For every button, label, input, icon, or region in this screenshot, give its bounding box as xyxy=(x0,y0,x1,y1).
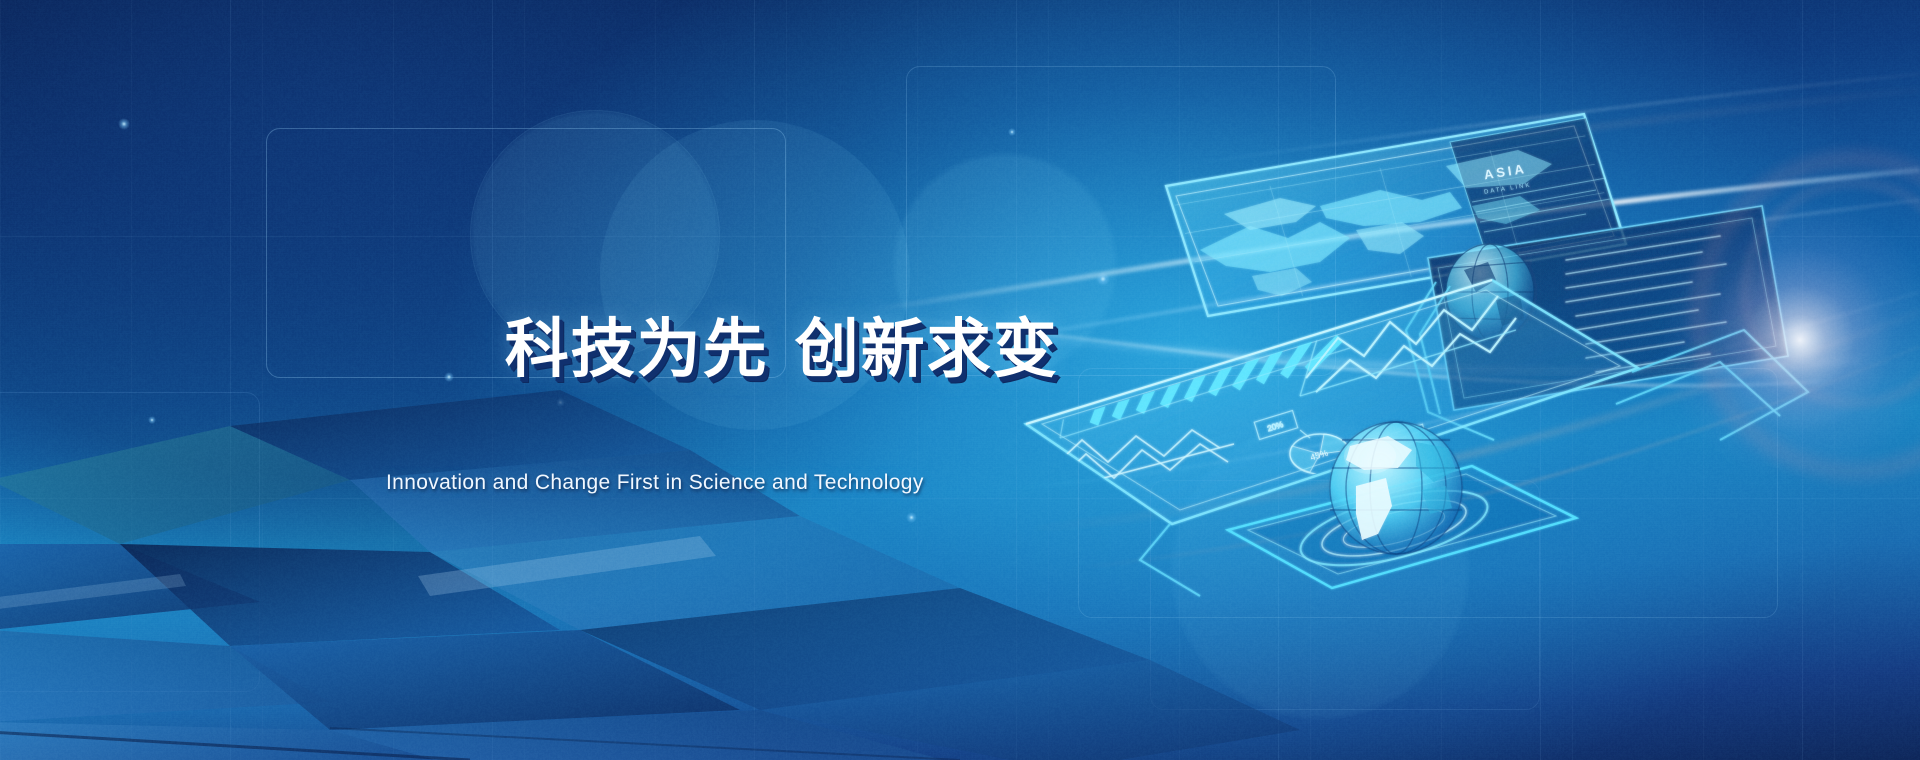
secondary-line-chart xyxy=(1048,430,1234,492)
page-title: 科技为先创新求变 xyxy=(386,246,1026,453)
panel-text-lines xyxy=(1566,236,1726,372)
bar-chart xyxy=(1094,294,1340,424)
globe-text-panel xyxy=(1406,206,1788,440)
lens-flare-ring xyxy=(1690,150,1920,480)
pie-label: 45% xyxy=(1309,448,1329,463)
lens-flare-ring xyxy=(1740,178,1920,408)
svg-text:20%: 20% xyxy=(1266,420,1284,433)
glow-dot xyxy=(906,512,917,523)
hud-outline-box xyxy=(1078,368,1778,618)
globe-base xyxy=(1228,422,1576,588)
hero-copy: 科技为先创新求变 Innovation and Change First in … xyxy=(386,246,1026,495)
hud-outline-box xyxy=(1150,480,1540,710)
hero-banner: ASIA DATA LINK xyxy=(0,0,1920,760)
lens-flare xyxy=(1650,190,1920,490)
hud-outline-box xyxy=(0,392,260,692)
trend-line-chart xyxy=(1306,296,1516,392)
asia-sublabel: DATA LINK xyxy=(1484,182,1532,195)
world-map-panel: ASIA DATA LINK xyxy=(1166,114,1626,316)
svg-text:26%: 26% xyxy=(1395,434,1413,447)
glow-dot xyxy=(1096,272,1110,286)
svg-text:21%: 21% xyxy=(1322,498,1340,511)
glow-dot xyxy=(118,118,130,130)
asia-label: ASIA xyxy=(1483,161,1528,183)
hologram-cluster: ASIA DATA LINK xyxy=(1020,0,1920,760)
page-subtitle: Innovation and Change First in Science a… xyxy=(386,471,1026,495)
connector-lines xyxy=(1140,330,1808,596)
flow-boxes: 20% 26% 21% xyxy=(1254,411,1427,518)
decorative-bubble xyxy=(1170,420,1470,720)
glow-dot xyxy=(1008,128,1016,136)
headline-part-1: 科技为先 xyxy=(505,313,769,385)
analytics-panel: 45% 20% 26% 21% xyxy=(1026,276,1638,524)
headline-part-2: 创新求变 xyxy=(795,313,1059,385)
pie-chart: 45% xyxy=(1290,434,1350,474)
glow-dot xyxy=(148,416,156,424)
